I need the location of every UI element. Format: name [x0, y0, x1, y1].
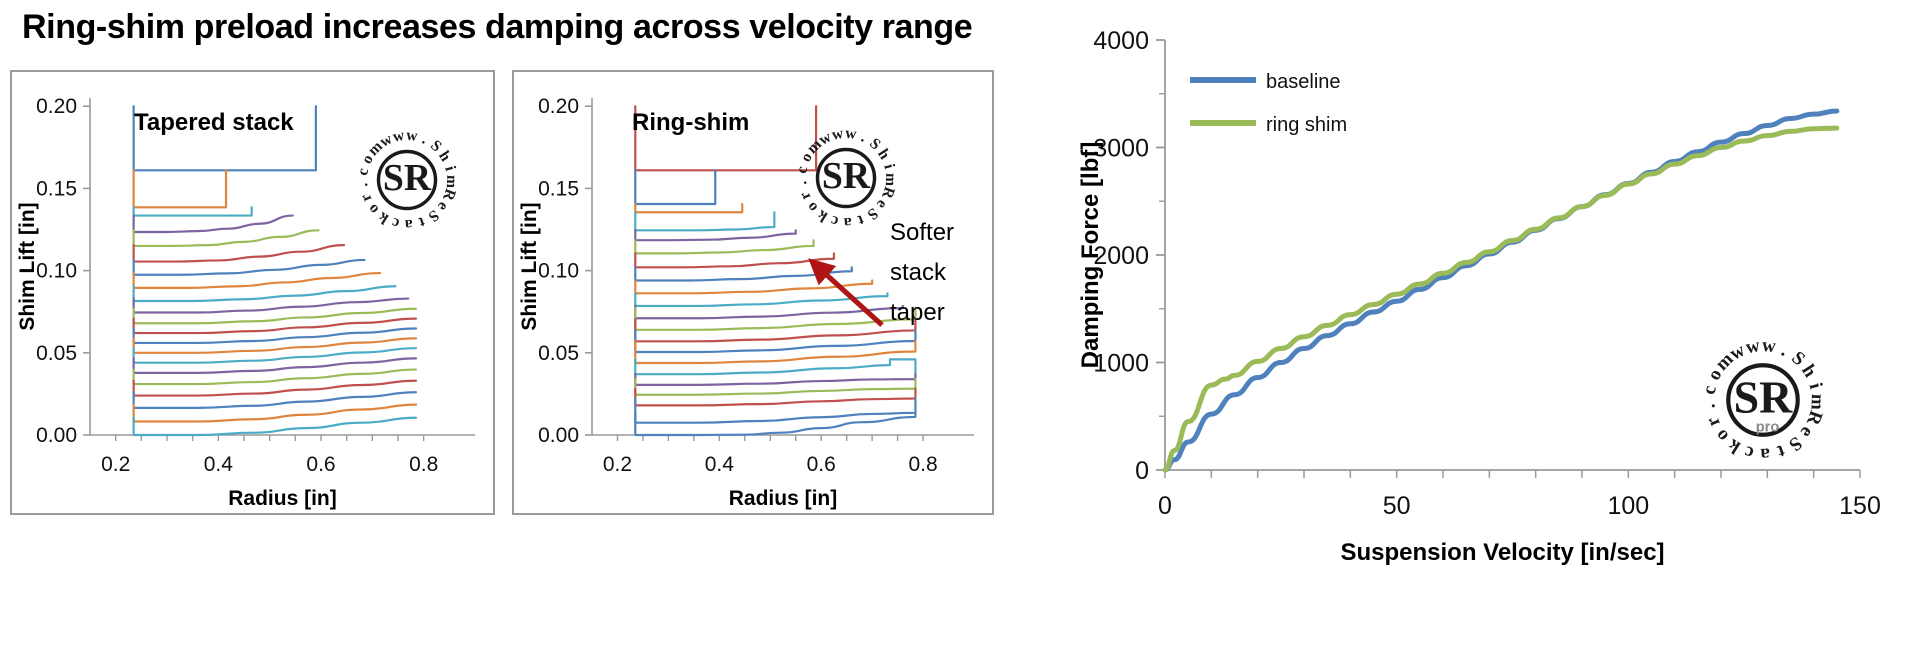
shim-profile-line [134, 170, 226, 207]
y-tick-label: 0.00 [538, 424, 579, 447]
shimrestackor-logo: www.ShimReStackor.comSR [354, 127, 460, 233]
chart-tapered-stack: 0.000.050.100.150.200.20.40.60.8Radius [… [12, 72, 493, 513]
shim-profile-line [635, 253, 834, 267]
x-tick-label: 150 [1839, 492, 1881, 520]
logo-ring-letter: w [1761, 335, 1777, 357]
y-tick-label: 0.10 [36, 260, 77, 283]
shim-profile-line [635, 170, 715, 204]
logo-ring-letter: i [880, 162, 898, 171]
y-tick-label: 0.10 [538, 260, 579, 283]
chart-ring-shim: 0.000.050.100.150.200.20.40.60.8Radius [… [514, 72, 992, 513]
shim-profile-line [134, 309, 416, 323]
logo-ring-letter: c [354, 167, 372, 177]
x-tick-label: 0.4 [204, 453, 234, 476]
shim-profile-line [134, 418, 416, 435]
logo-ring-letter: . [859, 129, 869, 146]
shim-profile-line [134, 216, 293, 232]
page-title: Ring-shim preload increases damping acro… [22, 8, 1202, 54]
shim-profile-line [635, 413, 915, 435]
y-tick-label: 0.15 [538, 177, 579, 200]
logo-ring-letter: w [1744, 335, 1762, 358]
y-tick-label: 0 [1135, 457, 1149, 485]
logo-ring-letter: m [1806, 394, 1828, 411]
logo-ring-letter: c [1699, 384, 1721, 396]
logo-ring-letter: m [443, 175, 460, 189]
shim-profile-line [635, 399, 915, 423]
y-tick-label: 0.20 [538, 95, 579, 118]
x-tick-label: 0.6 [306, 453, 335, 476]
logo-ring-letter: . [354, 182, 371, 188]
legend: baselinering shim [1190, 71, 1347, 136]
shim-profile-line [635, 204, 742, 212]
panel-heading: Tapered stack [134, 109, 294, 136]
shim-profile-line [134, 370, 416, 384]
logo-ring-letter: c [829, 212, 840, 230]
logo-monogram: SR [1734, 371, 1794, 422]
chart-damping-force: 01000200030004000050100150Suspension Vel… [1060, 0, 1920, 654]
panel-tapered-stack: 0.000.050.100.150.200.20.40.60.8Radius [… [10, 70, 495, 515]
logo-ring-letter: . [1698, 403, 1719, 410]
annotation-line: taper [890, 299, 945, 326]
logo-ring-letter: t [855, 211, 866, 229]
slide-root: Ring-shim preload increases damping acro… [0, 0, 1920, 654]
logo-ring-letter: w [405, 127, 419, 145]
logo-monogram: SR [383, 157, 432, 199]
y-axis-title: Shim Lift [in] [518, 202, 541, 330]
logo-ring-letter: S [864, 204, 881, 223]
shim-profile-line [635, 212, 774, 230]
y-tick-label: 0.20 [36, 95, 77, 118]
legend-label: baseline [1266, 71, 1341, 93]
logo-ring-letter: . [793, 180, 810, 186]
y-tick-label: 0.05 [36, 342, 77, 365]
logo-ring-letter: i [1805, 381, 1827, 392]
logo-ring-letter: c [390, 214, 401, 232]
logo-ring-letter: c [793, 165, 811, 175]
y-axis-title: Damping Force [lbf] [1077, 142, 1104, 369]
x-tick-label: 0.2 [101, 453, 130, 476]
annotation-line: Softer [890, 219, 954, 246]
x-tick-label: 100 [1607, 492, 1649, 520]
logo-ring-letter: a [1759, 443, 1770, 464]
shim-series-group [635, 106, 915, 435]
logo-ring-letter: o [1711, 425, 1733, 446]
logo-ring-letter: S [425, 206, 442, 225]
logo-ring-letter: r [1702, 413, 1725, 430]
y-tick-label: 0.00 [36, 424, 77, 447]
shim-profile-line [635, 240, 813, 253]
shim-profile-line [635, 230, 795, 240]
logo-ring-letter: w [830, 125, 845, 144]
shimrestackor-pro-logo: www.ShimReStackor.comSRpro [1698, 335, 1828, 465]
logo-ring-letter: r [796, 189, 814, 202]
x-tick-label: 0 [1158, 492, 1172, 520]
x-tick-label: 0.8 [409, 453, 438, 476]
logo-ring-letter: S [1785, 432, 1806, 455]
x-tick-label: 0.2 [603, 453, 632, 476]
annotation-line: stack [890, 259, 947, 286]
panel-ring-shim: 0.000.050.100.150.200.20.40.60.8Radius [… [512, 70, 994, 515]
logo-ring-letter: c [1742, 441, 1756, 463]
shim-profile-line [635, 389, 915, 406]
logo-ring-letter: h [435, 148, 454, 165]
y-axis-title: Shim Lift [in] [16, 202, 39, 330]
x-tick-label: 0.4 [705, 453, 735, 476]
x-axis-title: Radius [in] [729, 487, 838, 510]
logo-ring-letter: . [1778, 340, 1791, 361]
logo-pro-tag: pro [1756, 419, 1780, 435]
x-axis-title: Radius [in] [228, 487, 337, 510]
y-tick-label: 0.05 [538, 342, 579, 365]
logo-ring-letter: w [391, 127, 406, 146]
x-tick-label: 0.6 [807, 453, 836, 476]
logo-ring-letter: h [874, 146, 893, 163]
x-axis-title: Suspension Velocity [in/sec] [1340, 539, 1664, 566]
logo-ring-letter: . [420, 131, 430, 148]
shim-profile-line [635, 379, 915, 395]
logo-ring-letter: o [364, 200, 382, 217]
logo-ring-letter: t [416, 213, 427, 231]
shimrestackor-logo: www.ShimReStackor.comSR [793, 125, 899, 231]
y-tick-label: 4000 [1093, 27, 1149, 55]
logo-ring-letter: r [357, 191, 375, 204]
logo-ring-letter: i [441, 164, 459, 173]
logo-ring-letter: o [803, 198, 821, 215]
logo-ring-letter: a [843, 214, 852, 231]
x-tick-label: 50 [1383, 492, 1411, 520]
panel-heading: Ring-shim [632, 109, 749, 136]
shim-profile-line [635, 374, 915, 385]
shim-profile-line [134, 245, 344, 261]
logo-ring-letter: a [404, 216, 413, 233]
y-tick-label: 0.15 [36, 177, 77, 200]
legend-label: ring shim [1266, 114, 1347, 136]
logo-ring-letter: w [844, 125, 858, 143]
logo-ring-letter: t [1774, 440, 1788, 462]
logo-ring-letter: m [882, 173, 899, 187]
shim-profile-line [134, 207, 252, 215]
logo-monogram: SR [822, 155, 871, 197]
x-tick-label: 0.8 [908, 453, 937, 476]
